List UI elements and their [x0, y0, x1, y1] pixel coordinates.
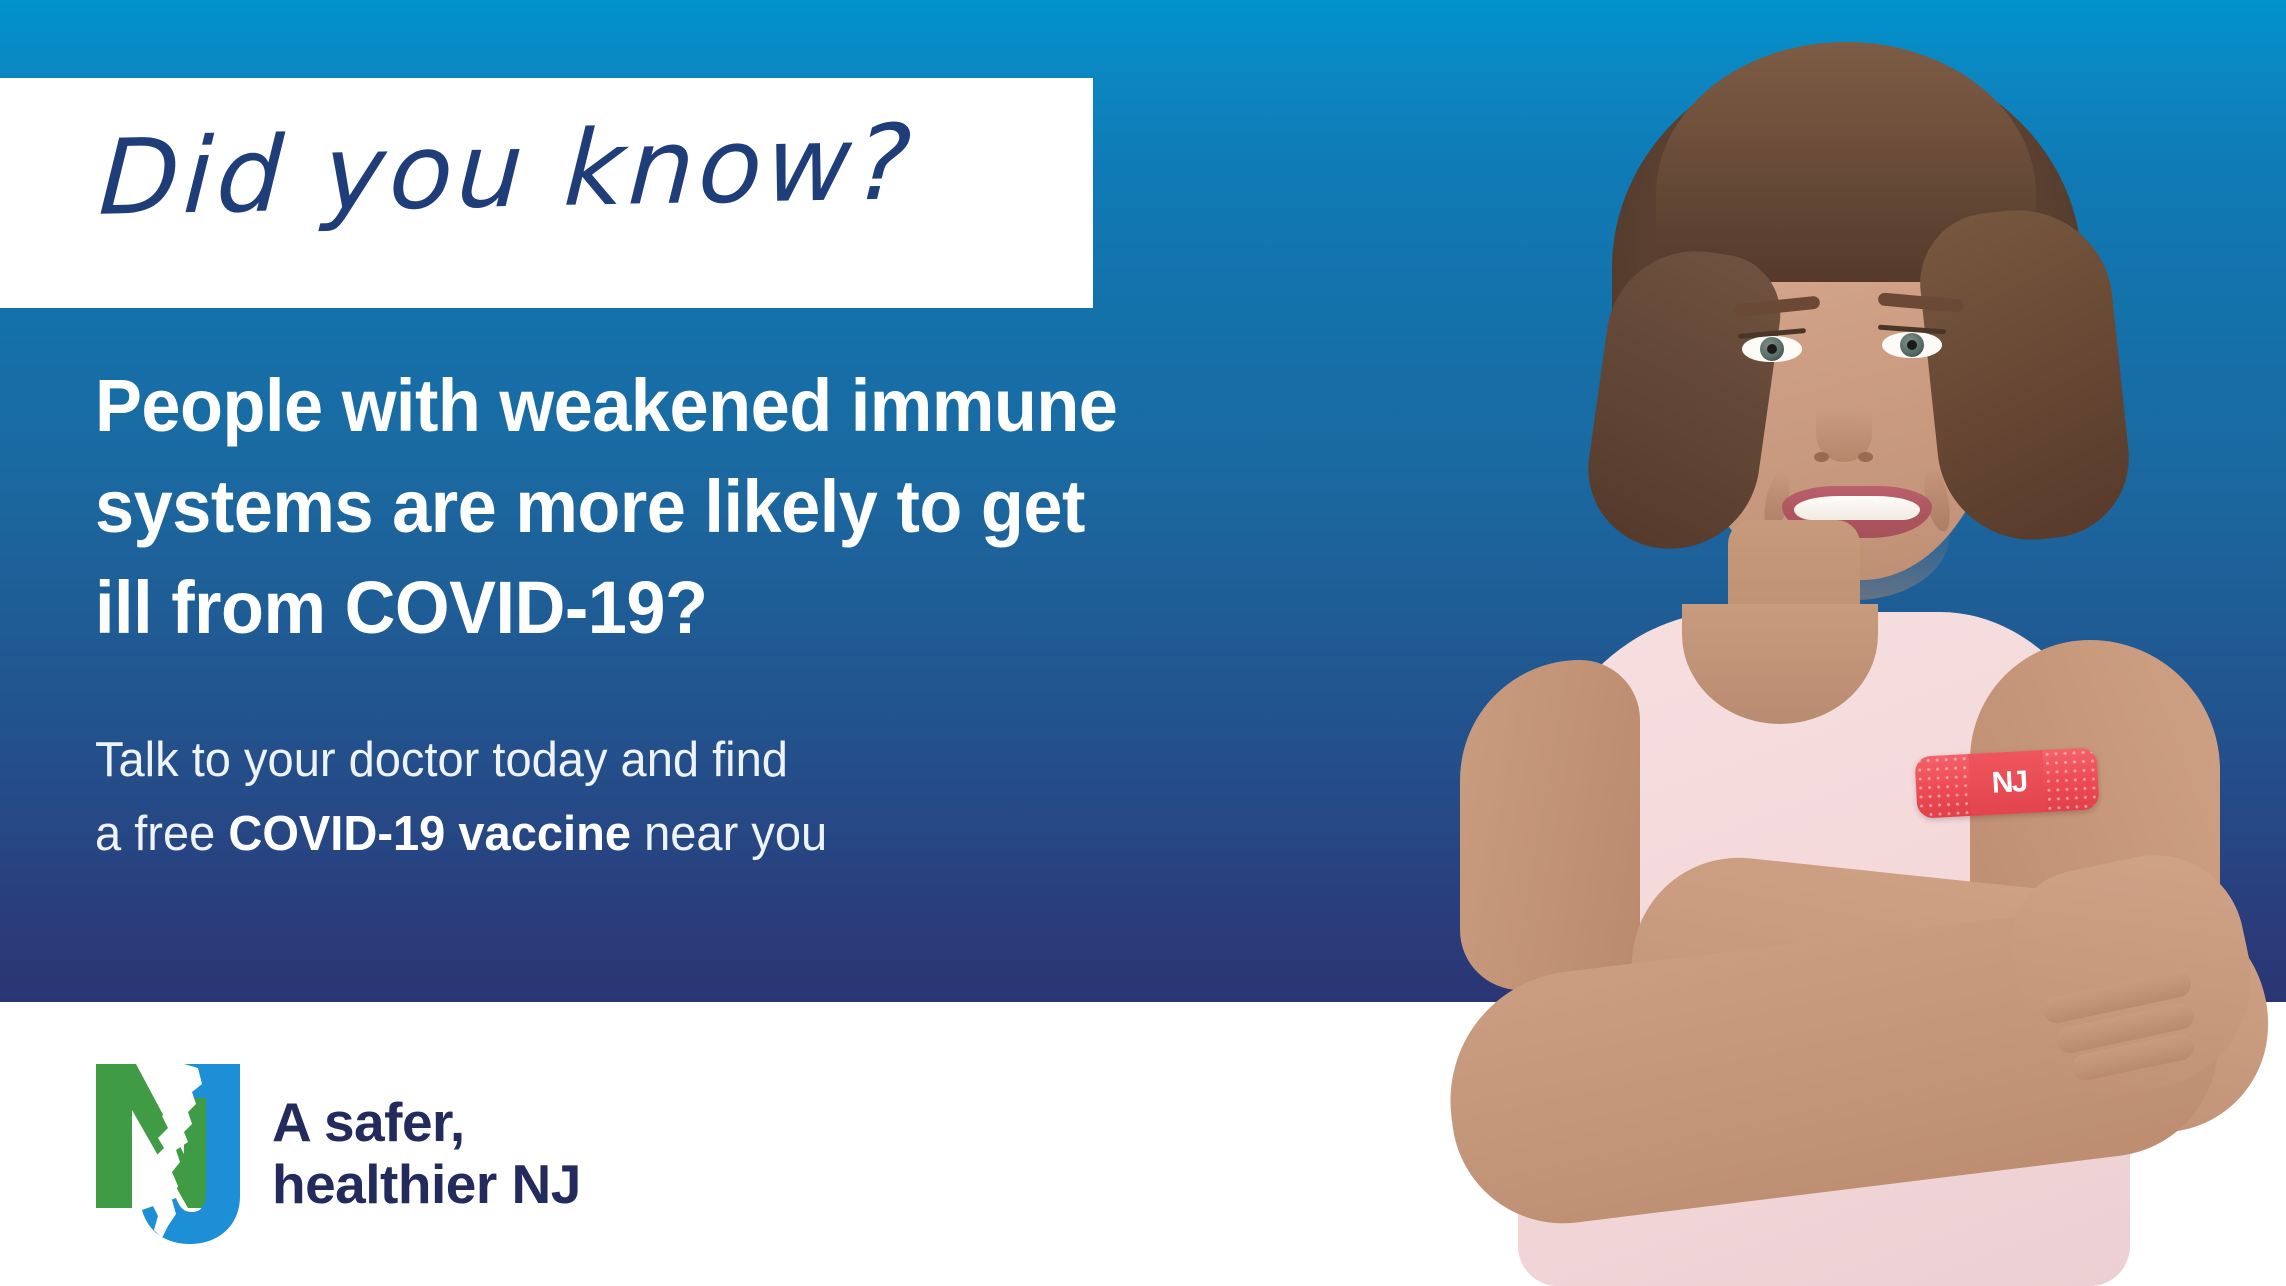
pupil-left	[1767, 344, 1777, 354]
headline: People with weakened immune systems are …	[95, 355, 1264, 658]
headline-line-1: People with weakened immune	[95, 355, 1264, 456]
teeth	[1794, 496, 1920, 520]
subtext-line-2: a free COVID-19 vaccine near you	[95, 797, 1247, 871]
subtext: Talk to your doctor today and find a fre…	[95, 723, 1247, 871]
headline-line-3: ill from COVID-19?	[95, 557, 1264, 658]
eyebrow-did-you-know: Did you know?	[97, 110, 917, 230]
bandage-texture-right	[2042, 747, 2099, 812]
pupil-right	[1907, 340, 1917, 350]
shoulder-left	[1460, 660, 1640, 990]
nj-monogram-icon	[92, 1058, 244, 1248]
subtext-suffix: near you	[631, 807, 827, 861]
nostril-right	[1858, 452, 1873, 462]
subtext-prefix: a free	[95, 807, 228, 861]
headline-line-2: systems are more likely to get	[95, 456, 1264, 557]
subtext-emphasis-vaccine: COVID-19 vaccine	[228, 807, 631, 861]
iris-left	[1760, 337, 1784, 361]
bandage-texture-left	[1915, 754, 1972, 819]
nj-logo-tagline: A safer, healthier NJ	[272, 1091, 581, 1215]
nj-logo: A safer, healthier NJ	[92, 1058, 581, 1248]
woman-photo: NJ	[1330, 0, 2286, 1286]
tagline-line-2: healthier NJ	[272, 1153, 581, 1215]
eye-right	[1882, 332, 1942, 358]
nj-adhesive-bandage: NJ	[1915, 747, 2100, 818]
nose	[1816, 372, 1872, 462]
subtext-line-1: Talk to your doctor today and find	[95, 723, 1247, 797]
bandage-nj-logo: NJ	[1977, 760, 2041, 805]
nostril-left	[1814, 452, 1829, 462]
eye-left	[1742, 336, 1802, 362]
tagline-line-1: A safer,	[272, 1091, 581, 1153]
public-health-advertisement: NJ Did you know? People with weakened im…	[0, 0, 2286, 1286]
nj-logo-mark	[92, 1058, 244, 1248]
iris-right	[1900, 333, 1924, 357]
